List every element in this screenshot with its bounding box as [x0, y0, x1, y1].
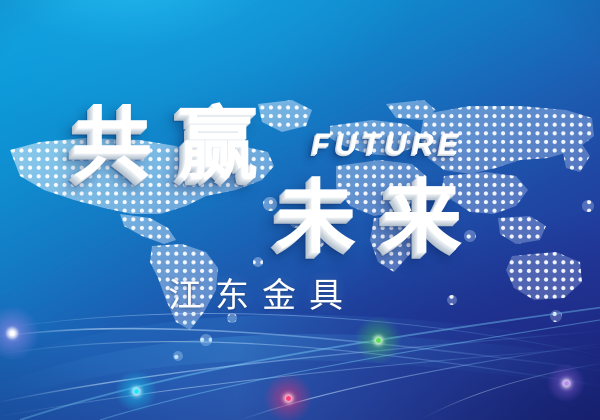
headline-content: 共 赢 FUTURE 未 来 江东金具	[0, 0, 600, 420]
future-wordmark: FUTURE	[312, 128, 464, 162]
company-name-subtitle: 江东金具	[168, 268, 356, 317]
headline-char-wei: 未	[276, 178, 356, 258]
headline-line-1: 共 赢	[72, 105, 258, 185]
promo-banner: 共 赢 FUTURE 未 来 江东金具	[0, 0, 600, 420]
headline-char-lai: 来	[382, 178, 462, 258]
headline-char-ying: 赢	[178, 105, 258, 185]
headline-line-2: 未 来	[276, 178, 462, 258]
headline-char-gong: 共	[72, 105, 152, 185]
